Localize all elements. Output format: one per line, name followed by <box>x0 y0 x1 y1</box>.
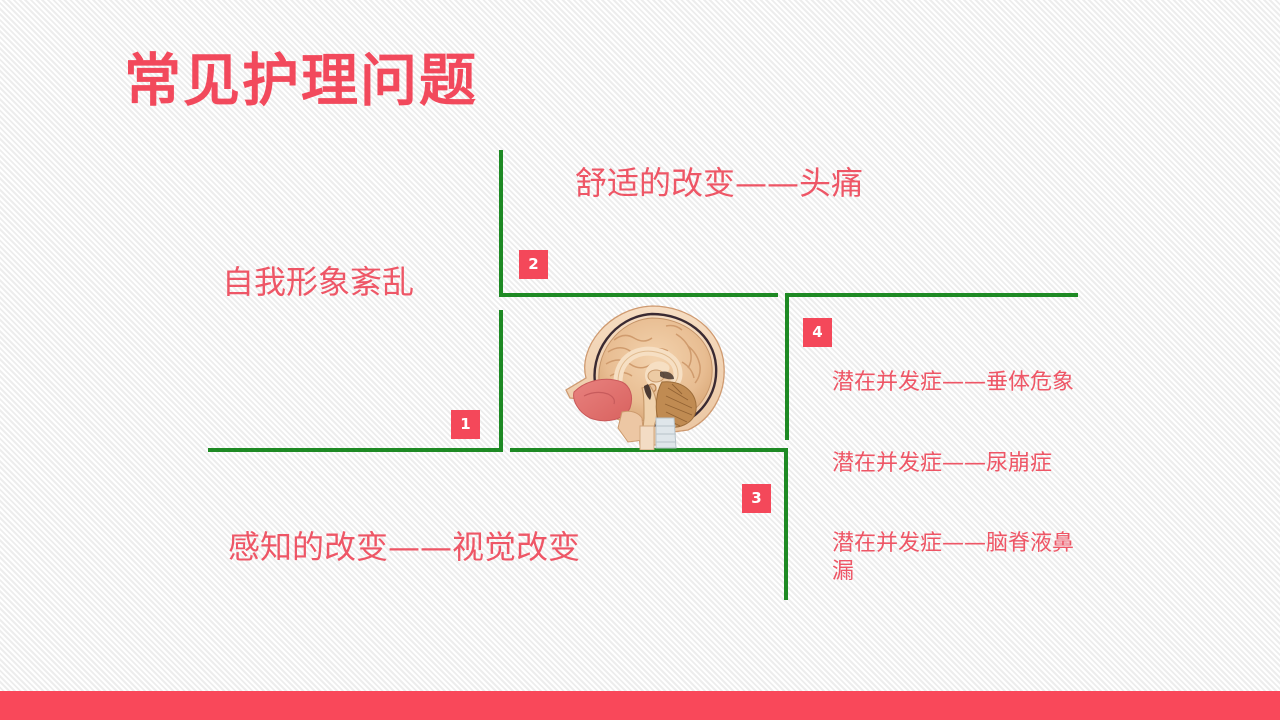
badge-2[interactable]: 2 <box>519 250 548 279</box>
branch-label-complication-csf-rhinorrhea: 潜在并发症——脑脊液鼻漏 <box>832 530 1082 586</box>
connector-line-branch2-horizontal <box>499 293 778 297</box>
connector-line-branch3-vertical <box>784 448 788 600</box>
branch-label-perception-change: 感知的改变——视觉改变 <box>228 527 580 568</box>
connector-line-branch2-vertical <box>499 150 503 297</box>
branch-label-complication-diabetes-insipidus: 潜在并发症——尿崩症 <box>832 450 1082 478</box>
badge-1[interactable]: 1 <box>451 410 480 439</box>
branch-label-comfort-change: 舒适的改变——头痛 <box>575 163 863 204</box>
branch-label-self-image-disorder: 自我形象紊乱 <box>222 262 414 303</box>
page-title: 常见护理问题 <box>124 52 478 112</box>
badge-3[interactable]: 3 <box>742 484 771 513</box>
connector-line-branch4-vertical <box>785 295 789 440</box>
connector-line-branch4-horizontal <box>785 293 1078 297</box>
brain-sagittal-anatomy-image <box>556 300 736 450</box>
branch-label-complication-pituitary-crisis: 潜在并发症——垂体危象 <box>832 369 1082 397</box>
footer-bar <box>0 691 1280 720</box>
connector-line-branch1-vertical <box>499 310 503 452</box>
connector-line-branch1-horizontal <box>208 448 503 452</box>
badge-4[interactable]: 4 <box>803 318 832 347</box>
slide-canvas: 常见护理问题 <box>0 0 1280 720</box>
